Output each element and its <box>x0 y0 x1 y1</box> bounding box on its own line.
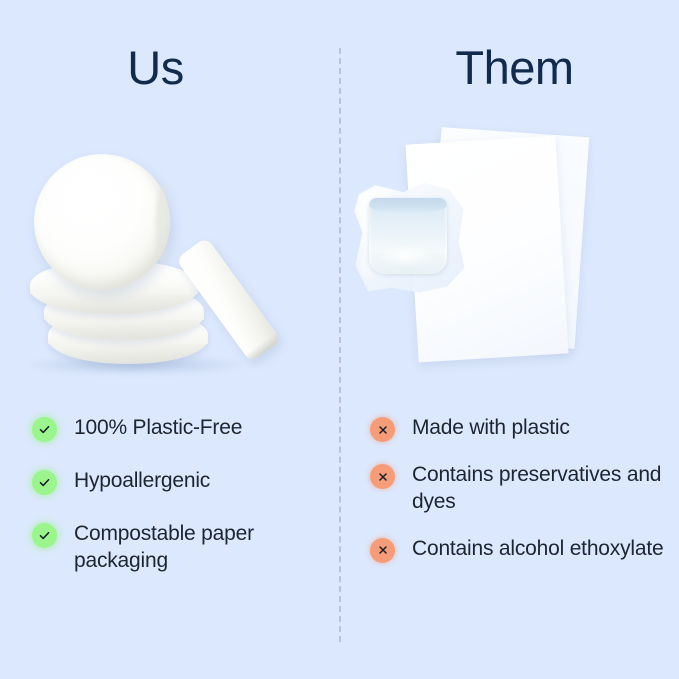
feature-label: Made with plastic <box>412 415 570 442</box>
check-icon <box>32 523 57 548</box>
pod-gel-contents <box>369 198 447 274</box>
column-title-them: Them <box>340 44 679 91</box>
list-item: Compostable paper packaging <box>32 521 339 575</box>
list-item: Hypoallergenic <box>32 468 339 495</box>
feature-label: Contains alcohol ethoxylate <box>412 536 663 563</box>
list-item: Made with plastic <box>370 415 679 442</box>
feature-label: Compostable paper packaging <box>74 521 329 575</box>
cross-icon <box>370 417 395 442</box>
column-us: Us <box>0 0 339 679</box>
list-item: 100% Plastic-Free <box>32 415 339 442</box>
column-them: Them Made with plastic <box>340 0 679 679</box>
cross-icon <box>370 464 395 489</box>
cross-icon <box>370 538 395 563</box>
product-image-tablets <box>0 120 339 395</box>
plastic-pod <box>352 178 468 296</box>
feature-list-us: 100% Plastic-Free Hypoallergenic Compost… <box>0 415 339 601</box>
list-item: Contains alcohol ethoxylate <box>370 536 679 563</box>
check-icon <box>32 417 57 442</box>
tablet-front-large <box>34 154 170 290</box>
product-image-plastic-pod <box>340 120 679 395</box>
column-title-us: Us <box>0 44 339 91</box>
feature-label: 100% Plastic-Free <box>74 415 242 442</box>
list-item: Contains preservatives and dyes <box>370 462 679 516</box>
feature-label: Contains preservatives and dyes <box>412 462 670 516</box>
comparison-infographic: Us <box>0 0 679 679</box>
feature-label: Hypoallergenic <box>74 468 210 495</box>
check-icon <box>32 470 57 495</box>
feature-list-them: Made with plastic Contains preservatives… <box>340 415 679 583</box>
